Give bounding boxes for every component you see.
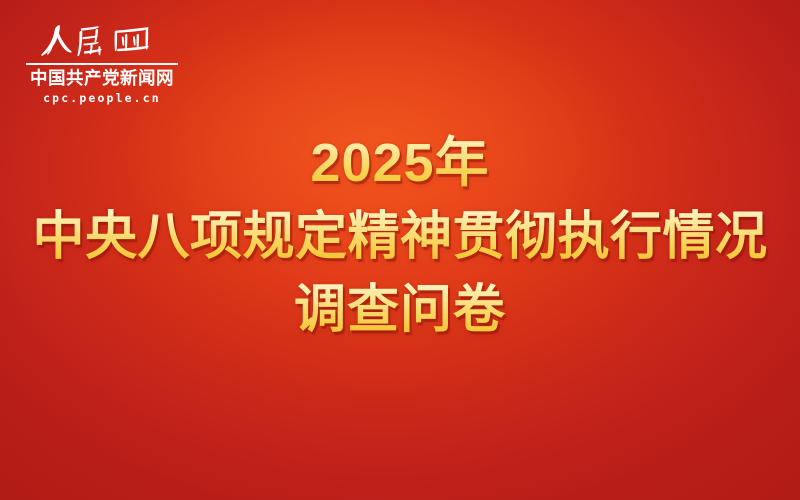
title-line-main: 中央八项规定精神贯彻执行情况 [0,207,800,268]
poster-title: 2025年 中央八项规定精神贯彻执行情况 调查问卷 [0,132,800,341]
people-daily-calligraphy-logo-icon [40,21,164,61]
logo-site-url: cpc.people.cn [26,91,178,105]
title-line-year: 2025年 [0,132,800,196]
poster-banner: 中国共产党新闻网 cpc.people.cn 2025年 中央八项规定精神贯彻执… [0,0,800,500]
title-line-subject: 调查问卷 [0,280,800,341]
logo-site-name: 中国共产党新闻网 [26,69,178,88]
logo-divider-rule [26,63,178,65]
peoples-daily-logo[interactable]: 中国共产党新闻网 cpc.people.cn [26,21,178,105]
